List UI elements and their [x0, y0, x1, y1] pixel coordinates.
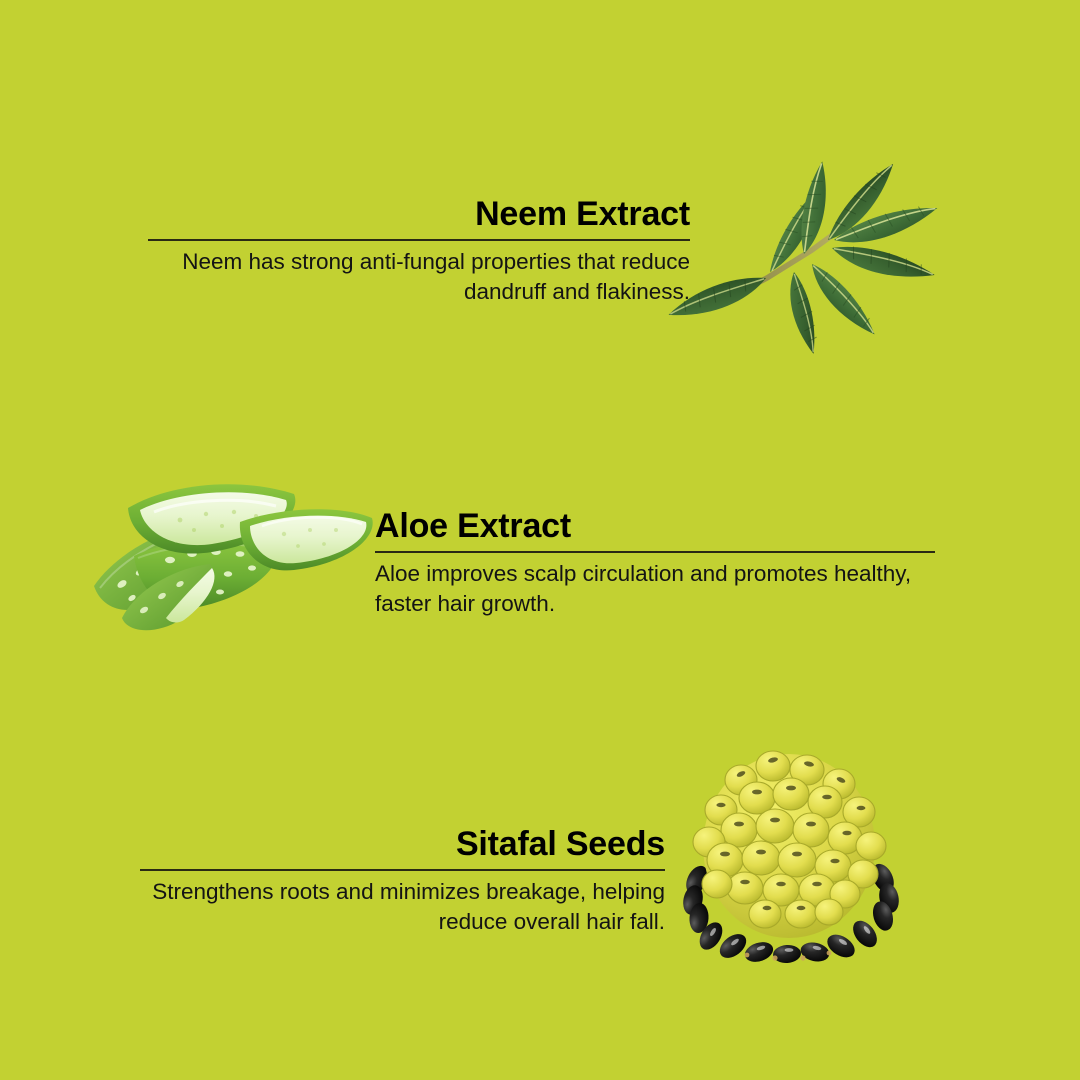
ingredient-block-aloe: Aloe Extract Aloe improves scalp circula…: [375, 508, 935, 619]
ingredient-block-sitafal: Sitafal Seeds Strengthens roots and mini…: [140, 826, 665, 937]
ingredient-description-neem: Neem has strong anti-fungal properties t…: [148, 247, 690, 307]
ingredient-title-sitafal: Sitafal Seeds: [140, 826, 665, 862]
ingredient-block-neem: Neem Extract Neem has strong anti-fungal…: [148, 196, 690, 307]
divider-rule-aloe: [375, 551, 935, 553]
ingredients-infographic: Neem Extract Neem has strong anti-fungal…: [0, 0, 1080, 1080]
custard-apple-with-seeds-image: [663, 742, 915, 964]
aloe-vera-slices-image: [88, 468, 378, 640]
neem-leaves-image: [662, 100, 962, 368]
divider-rule-neem: [148, 239, 690, 241]
ingredient-title-aloe: Aloe Extract: [375, 508, 935, 544]
ingredient-description-sitafal: Strengthens roots and minimizes breakage…: [140, 877, 665, 937]
ingredient-description-aloe: Aloe improves scalp circulation and prom…: [375, 559, 935, 619]
ingredient-title-neem: Neem Extract: [148, 196, 690, 232]
divider-rule-sitafal: [140, 869, 665, 871]
